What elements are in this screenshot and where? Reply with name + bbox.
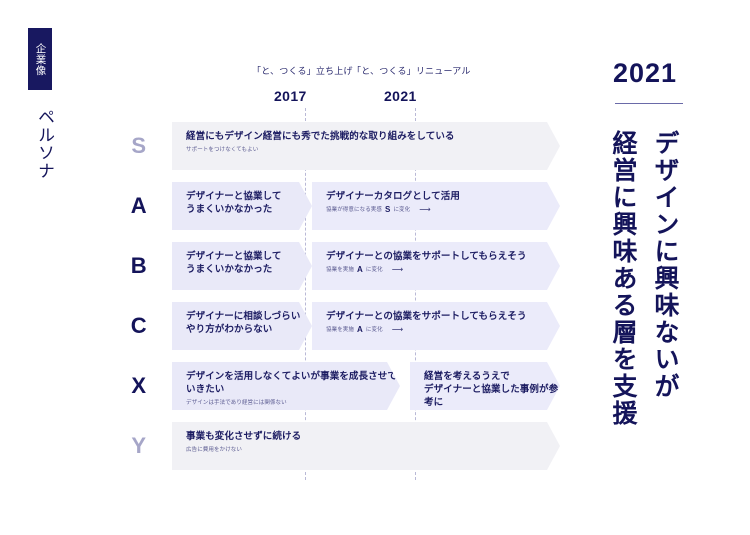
- timeline-year-2017: 2017: [274, 88, 307, 104]
- stage-block[interactable]: デザイナーカタログとして活用協業が得意になる実感Sに変化⟶: [312, 182, 560, 230]
- row-letter-s: S: [124, 133, 154, 159]
- stage-block-title: デザインを活用しなくてよいが事業を成長させていきたい: [186, 370, 400, 396]
- stage-block[interactable]: デザイナーと協業して うまくいかなかった: [172, 242, 312, 290]
- stage-block-subtitle-tail: に変化: [366, 266, 383, 274]
- timeline-year-2021: 2021: [384, 88, 417, 104]
- stage-block-target-grade: S: [385, 206, 390, 214]
- row-letter-b: B: [124, 253, 154, 279]
- stage-block-subtitle: 広告に費用をかけない: [186, 446, 560, 454]
- stage-block-subtitle-text: 広告に費用をかけない: [186, 446, 242, 454]
- row-letter-a: A: [124, 193, 154, 219]
- timeline-caption-launch: 「と、つくる」立ち上げ: [252, 64, 353, 77]
- stage-block-target-grade: A: [357, 266, 363, 274]
- stage-block[interactable]: 経営を考えるうえで デザイナーと協業した事例が参考に: [410, 362, 560, 410]
- right-panel-headline-line1: デザインに興味ないが: [650, 130, 680, 400]
- right-arrow-icon: ⟶: [392, 266, 402, 274]
- stage-block-title: デザイナーとの協業をサポートしてもらえそう: [326, 310, 560, 323]
- stage-block-subtitle: サポートをつけなくてもよい: [186, 146, 560, 154]
- stage-block-subtitle-tail: に変化: [366, 326, 383, 334]
- stage-block-title: デザイナーカタログとして活用: [326, 190, 560, 203]
- stage-block-subtitle-tail: に変化: [393, 206, 410, 214]
- right-panel-rule: [615, 103, 683, 104]
- stage-block-subtitle-text: 協業を実施: [326, 326, 354, 334]
- stage-block[interactable]: デザイナーに相談しづらい やり方がわからない: [172, 302, 312, 350]
- stage-block-subtitle-text: サポートをつけなくてもよい: [186, 146, 258, 154]
- right-arrow-icon: ⟶: [392, 326, 402, 334]
- stage-block-subtitle-text: 協業が得意になる実感: [326, 206, 382, 214]
- persona-row: Y事業も変化させずに続ける広告に費用をかけない: [0, 422, 750, 470]
- stage-block-subtitle-text: 協業を実施: [326, 266, 354, 274]
- stage-block-title: 事業も変化させずに続ける: [186, 430, 560, 443]
- right-arrow-icon: ⟶: [419, 206, 429, 214]
- stage-block-target-grade: A: [357, 326, 363, 334]
- stage-block-title: デザイナーとの協業をサポートしてもらえそう: [326, 250, 560, 263]
- row-letter-c: C: [124, 313, 154, 339]
- stage-block-title: 経営を考えるうえで デザイナーと協業した事例が参考に: [424, 370, 560, 409]
- stage-block[interactable]: デザイナーと協業して うまくいかなかった: [172, 182, 312, 230]
- stage-block[interactable]: デザインを活用しなくてよいが事業を成長させていきたいデザインは手法であり経営には…: [172, 362, 400, 410]
- stage-block[interactable]: 事業も変化させずに続ける広告に費用をかけない: [172, 422, 560, 470]
- stage-block-title: デザイナーと協業して うまくいかなかった: [186, 250, 312, 276]
- company-image-badge: 企業像: [28, 28, 52, 90]
- stage-block[interactable]: 経営にもデザイン経営にも秀でた挑戦的な取り組みをしているサポートをつけなくてもよ…: [172, 122, 560, 170]
- stage-block-title: デザイナーに相談しづらい やり方がわからない: [186, 310, 312, 336]
- stage-block-subtitle-text: デザインは手法であり経営には関係ない: [186, 399, 287, 407]
- stage-block-subtitle: 協業を実施Aに変化⟶: [326, 266, 560, 274]
- row-letter-y: Y: [124, 433, 154, 459]
- right-panel-headline-line2: 経営に興味ある層を支援: [608, 130, 638, 427]
- stage-block-subtitle: デザインは手法であり経営には関係ない: [186, 399, 400, 407]
- timeline-caption-renewal: 「と、つくる」リニューアル: [352, 64, 471, 77]
- right-panel-year: 2021: [613, 58, 677, 89]
- stage-block[interactable]: デザイナーとの協業をサポートしてもらえそう協業を実施Aに変化⟶: [312, 302, 560, 350]
- row-letter-x: X: [124, 373, 154, 399]
- stage-block-subtitle: 協業が得意になる実感Sに変化⟶: [326, 206, 560, 214]
- stage-block-title: デザイナーと協業して うまくいかなかった: [186, 190, 312, 216]
- stage-block-subtitle: 協業を実施Aに変化⟶: [326, 326, 560, 334]
- poster-root: 企業像 ペルソナ 「と、つくる」立ち上げ 「と、つくる」リニューアル 2017 …: [0, 0, 750, 535]
- stage-block[interactable]: デザイナーとの協業をサポートしてもらえそう協業を実施Aに変化⟶: [312, 242, 560, 290]
- stage-block-title: 経営にもデザイン経営にも秀でた挑戦的な取り組みをしている: [186, 130, 560, 143]
